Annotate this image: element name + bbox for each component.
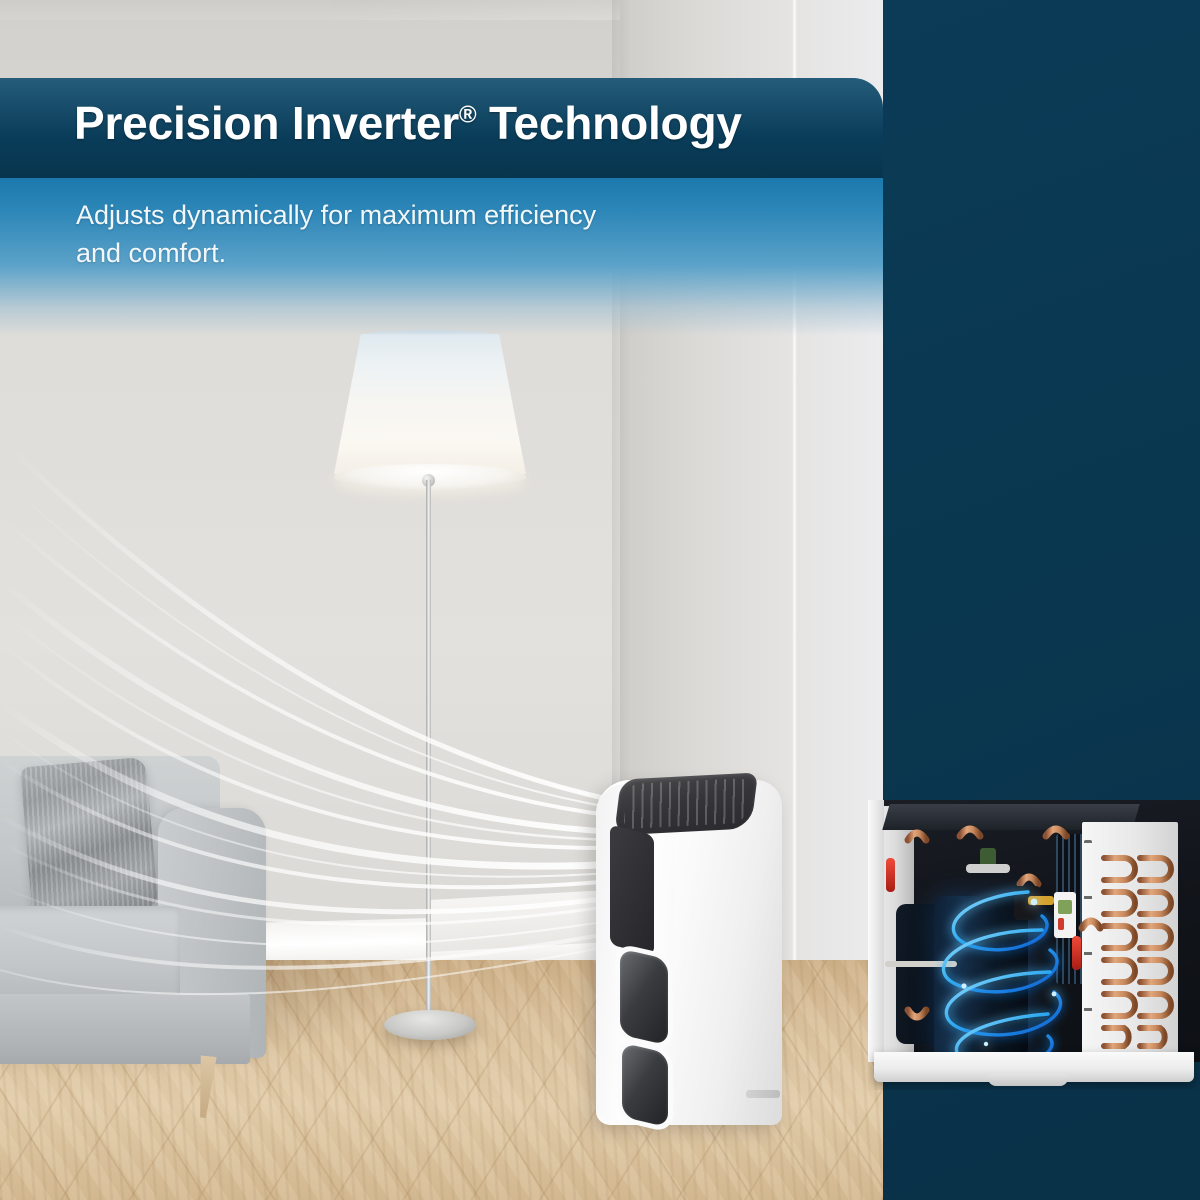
lampshade [334,334,526,474]
ac-grille-lower [622,1043,668,1128]
title-main: Precision Inverter [74,97,459,149]
sofa-base [0,994,250,1064]
subtitle: Adjusts dynamically for maximum efficien… [76,196,636,273]
red-terminal-cap-left [886,858,895,892]
compressor-cutaway [868,800,1200,1090]
pillow-texture [20,757,159,917]
page-title: Precision Inverter® Technology [74,96,742,150]
air-conditioner-unit [596,770,796,1130]
ac-louvers [623,778,750,829]
ac-top-vent [614,772,758,835]
floor-lamp [330,334,530,1044]
throw-pillow [20,757,159,917]
lamp-pole [426,480,431,1024]
ac-grille-upper [620,948,668,1045]
ac-side-vent [610,825,654,956]
sofa-seat-cushion [0,906,180,1002]
base-tray-notch [988,1074,1068,1086]
blue-energy-spiral-icon [908,874,1088,1074]
ac-seam [746,1090,780,1098]
lamp-base [384,1010,476,1040]
sofa [0,756,290,1086]
registered-trademark-icon: ® [459,102,476,129]
marketing-feature-graphic: Precision Inverter® Technology Adjusts d… [0,0,1200,1200]
title-suffix: Technology [476,97,741,149]
